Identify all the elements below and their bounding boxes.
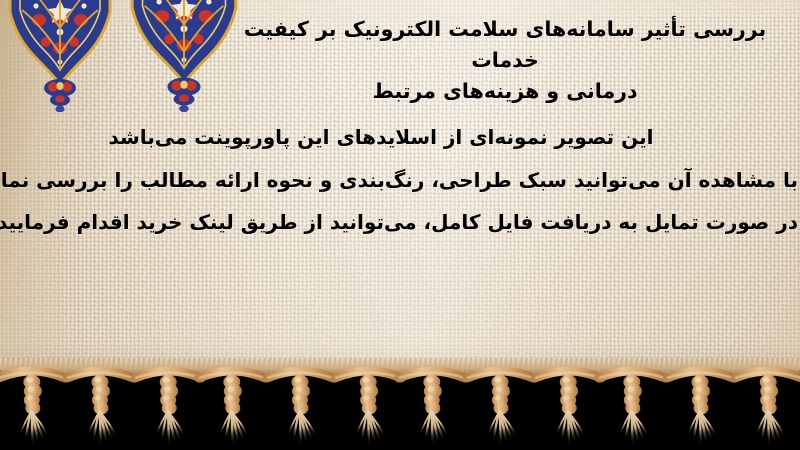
persian-medallion-ornament-left	[6, 0, 114, 112]
slide-body-text: این تصویر نمونه‌ای از اسلایدهای این پاور…	[0, 116, 800, 244]
tassel	[135, 371, 201, 442]
knotted-tassel-fringe	[0, 352, 800, 450]
tassel	[267, 371, 333, 442]
slide-title-line-1: بررسی تأثیر سامانه‌های سلامت الکترونیک ب…	[215, 14, 795, 76]
tassel	[199, 371, 265, 442]
tassel	[335, 371, 401, 442]
tassel	[67, 371, 133, 442]
tassel	[667, 371, 733, 442]
body-line-1: این تصویر نمونه‌ای از اسلایدهای این پاور…	[0, 116, 800, 159]
presentation-slide: بررسی تأثیر سامانه‌های سلامت الکترونیک ب…	[0, 0, 800, 450]
tassel	[467, 371, 533, 442]
ornament-pendant	[44, 79, 76, 112]
slide-title-line-2: درمانی و هزینه‌های مرتبط	[215, 76, 795, 107]
slide-title: بررسی تأثیر سامانه‌های سلامت الکترونیک ب…	[215, 14, 795, 107]
tassel	[599, 371, 665, 442]
body-line-2: با مشاهده آن می‌توانید سبک طراحی، رنگ‌بن…	[0, 159, 800, 202]
tassel	[399, 371, 465, 442]
ornament-pendant	[167, 77, 200, 112]
tassel	[735, 371, 800, 442]
body-line-3: در صورت تمایل به دریافت فایل کامل، می‌تو…	[0, 201, 800, 244]
tassel	[0, 371, 65, 442]
tassel	[535, 371, 601, 442]
